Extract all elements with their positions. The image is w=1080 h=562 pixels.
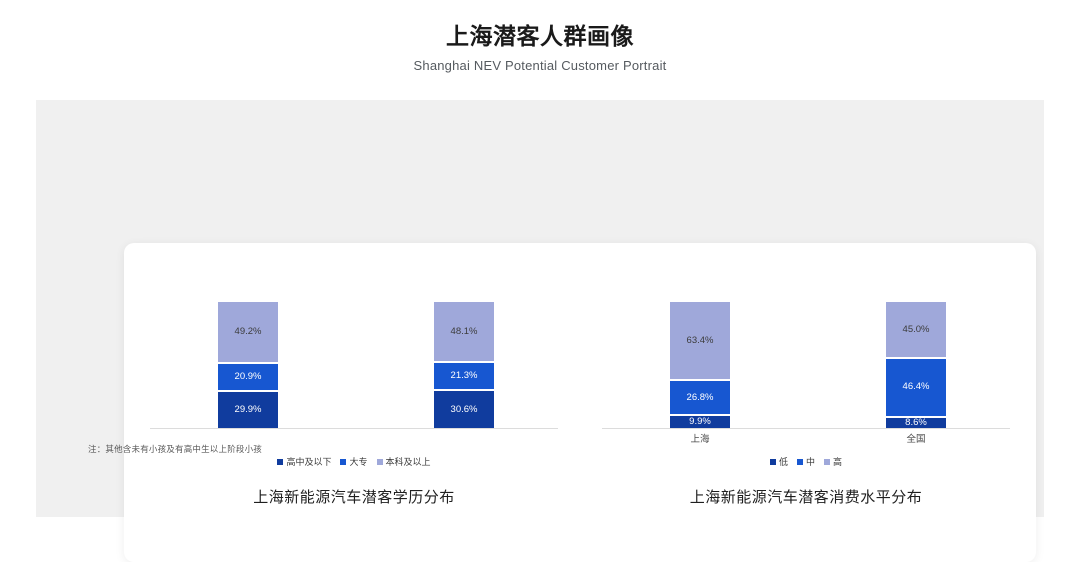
legend-swatch-icon — [824, 459, 830, 465]
legend-label: 高中及以下 — [286, 455, 331, 468]
bar-segment-high: 48.1% — [434, 302, 494, 362]
stacked-bar[interactable]: 49.2% 20.9% 29.9% — [218, 302, 278, 428]
legend-label: 本科及以上 — [386, 455, 431, 468]
chart-legend-education: 高中及以下 大专 本科及以上 — [136, 455, 572, 468]
bar-segment-label: 21.3% — [451, 371, 478, 381]
bar-segment-mid: 20.9% — [218, 363, 278, 391]
bar-segment-label: 46.4% — [903, 382, 930, 392]
plot-area-consumption: 63.4% 26.8% 9.9% 45.0% — [588, 285, 1024, 429]
x-axis-line — [150, 428, 558, 429]
legend-label: 高 — [833, 455, 842, 468]
chart-caption: 上海新能源汽车潜客消费水平分布 — [588, 486, 1024, 507]
page-subtitle: Shanghai NEV Potential Customer Portrait — [0, 58, 1080, 73]
bar-segment-label: 30.6% — [451, 405, 478, 415]
bar-segment-label: 9.9% — [689, 417, 711, 427]
charts-card: 49.2% 20.9% 29.9% 48.1% — [124, 243, 1036, 562]
legend-swatch-icon — [340, 459, 346, 465]
bar-segment-mid: 21.3% — [434, 362, 494, 390]
legend-item[interactable]: 低 — [770, 455, 788, 468]
footnote: 注：其他含未有小孩及有高中生以上阶段小孩 — [88, 443, 262, 455]
bar-segment-low: 9.9% — [670, 415, 730, 428]
legend-label: 低 — [779, 455, 788, 468]
x-axis-label: 上海 — [670, 431, 730, 445]
legend-item[interactable]: 高中及以下 — [277, 455, 331, 468]
bar-segment-label: 8.6% — [905, 418, 927, 428]
bar-segment-label: 29.9% — [235, 405, 262, 415]
legend-swatch-icon — [797, 459, 803, 465]
bar-segment-low: 8.6% — [886, 417, 946, 428]
x-axis-line — [602, 428, 1010, 429]
legend-item[interactable]: 大专 — [340, 455, 367, 468]
page-title: 上海潜客人群画像 — [0, 22, 1080, 51]
chart-education-distribution: 49.2% 20.9% 29.9% 48.1% — [136, 243, 572, 562]
chart-consumption-level-distribution: 63.4% 26.8% 9.9% 45.0% — [588, 243, 1024, 562]
legend-swatch-icon — [770, 459, 776, 465]
legend-item[interactable]: 中 — [797, 455, 815, 468]
bar-segment-label: 26.8% — [687, 393, 714, 403]
x-axis-labels: 上海 全国 — [588, 431, 1024, 447]
bar-segment-high: 45.0% — [886, 302, 946, 358]
bar-segment-high: 63.4% — [670, 302, 730, 380]
stacked-bar[interactable]: 48.1% 21.3% 30.6% — [434, 302, 494, 428]
x-axis-label: 全国 — [886, 431, 946, 445]
stacked-bar[interactable]: 45.0% 46.4% 8.6% — [886, 302, 946, 428]
slide-page: 上海潜客人群画像 Shanghai NEV Potential Customer… — [0, 0, 1080, 547]
legend-label: 大专 — [349, 455, 367, 468]
stacked-bar[interactable]: 63.4% 26.8% 9.9% — [670, 302, 730, 428]
legend-label: 中 — [806, 455, 815, 468]
bar-segment-label: 20.9% — [235, 372, 262, 382]
charts-row: 49.2% 20.9% 29.9% 48.1% — [124, 243, 1036, 562]
bar-segment-label: 63.4% — [687, 336, 714, 346]
bar-segment-low: 30.6% — [434, 390, 494, 428]
bar-segment-label: 48.1% — [451, 327, 478, 337]
bar-segment-low: 29.9% — [218, 391, 278, 428]
plot-area-education: 49.2% 20.9% 29.9% 48.1% — [136, 285, 572, 429]
bar-segment-label: 45.0% — [903, 325, 930, 335]
bar-segment-label: 49.2% — [235, 327, 262, 337]
bar-segment-mid: 46.4% — [886, 358, 946, 417]
legend-swatch-icon — [377, 459, 383, 465]
legend-item[interactable]: 高 — [824, 455, 842, 468]
bar-segment-high: 49.2% — [218, 302, 278, 363]
legend-swatch-icon — [277, 459, 283, 465]
chart-caption: 上海新能源汽车潜客学历分布 — [136, 486, 572, 507]
page-header: 上海潜客人群画像 Shanghai NEV Potential Customer… — [0, 22, 1080, 73]
chart-legend-consumption: 低 中 高 — [588, 455, 1024, 468]
bar-segment-mid: 26.8% — [670, 380, 730, 415]
legend-item[interactable]: 本科及以上 — [377, 455, 431, 468]
